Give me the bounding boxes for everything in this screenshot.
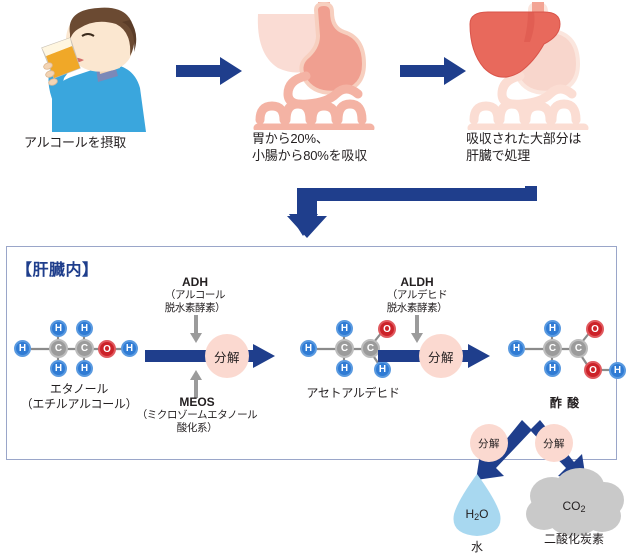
molecule-acetic-acid: H H H C C O O H	[508, 318, 626, 390]
enzyme-detail-adh: （アルコール 脱水素酵素）	[145, 289, 245, 315]
atom-h: H	[76, 360, 93, 377]
reaction-label-3: 分解	[470, 424, 508, 462]
step-caption-liver: 吸収された大部分は 肝臓で処理	[466, 130, 629, 164]
atom-c: C	[49, 339, 68, 358]
atom-h: H	[300, 340, 317, 357]
enzyme-name-adh: ADH	[145, 276, 245, 289]
step-caption-intake: アルコールを摂取	[24, 134, 174, 151]
product-water-formula: H2O	[465, 507, 488, 521]
atom-h: H	[508, 340, 525, 357]
atom-h: H	[50, 360, 67, 377]
product-co2-label: CO2 二酸化炭素	[522, 484, 626, 547]
enzyme-label-meos: MEOS （ミクロゾームエタノール 酸化系）	[128, 396, 266, 435]
atom-o: O	[586, 320, 604, 338]
atom-c: C	[569, 339, 588, 358]
product-water-label: H2O 水	[446, 492, 508, 555]
molecule-ethanol: H H H C H H C O H	[14, 318, 144, 380]
atom-h: H	[76, 320, 93, 337]
atom-o: O	[378, 320, 396, 338]
enzyme-name-meos: MEOS	[128, 396, 266, 409]
atom-h: H	[544, 360, 561, 377]
atom-h: H	[14, 340, 31, 357]
enzyme-detail-aldh: （アルデヒド 脱水素酵素）	[365, 289, 469, 315]
atom-o: O	[98, 340, 116, 358]
atom-c: C	[543, 339, 562, 358]
enzyme-arrow-aldh-down	[411, 315, 423, 343]
flow-arrow-2	[400, 56, 466, 86]
flow-arrow-down-connector	[285, 186, 545, 242]
reaction-label-1: 分解	[205, 334, 249, 378]
product-co2-name: 二酸化炭素	[544, 532, 604, 546]
molecule-label-acetaldehyde: アセトアルデヒド	[288, 386, 418, 401]
enzyme-detail-meos: （ミクロゾームエタノール 酸化系）	[128, 409, 266, 435]
molecule-label-acetic-acid: 酢 酸	[500, 396, 629, 411]
atom-c: C	[335, 339, 354, 358]
reaction-label-2: 分解	[419, 334, 463, 378]
flow-arrow-1	[176, 56, 242, 86]
atom-h: H	[336, 360, 353, 377]
product-co2-formula: CO2	[562, 499, 585, 513]
enzyme-arrow-meos-up	[190, 370, 202, 398]
enzyme-label-adh: ADH （アルコール 脱水素酵素）	[145, 276, 245, 315]
atom-h: H	[50, 320, 67, 337]
product-water-name: 水	[471, 540, 483, 554]
enzyme-label-aldh: ALDH （アルデヒド 脱水素酵素）	[365, 276, 469, 315]
atom-h: H	[544, 320, 561, 337]
enzyme-name-aldh: ALDH	[365, 276, 469, 289]
atom-o: O	[584, 361, 602, 379]
enzyme-arrow-adh-down	[190, 315, 202, 343]
atom-h: H	[121, 340, 138, 357]
liver-highlighted-icon	[466, 2, 606, 130]
person-drinking-icon	[22, 4, 172, 132]
atom-c: C	[75, 339, 94, 358]
stomach-intestine-icon	[252, 2, 392, 130]
step-caption-absorption: 胃から20%、 小腸から80%を吸収	[252, 130, 432, 164]
reaction-label-4: 分解	[535, 424, 573, 462]
liver-box-title: 【肝臓内】	[16, 256, 99, 280]
atom-h: H	[336, 320, 353, 337]
atom-h: H	[609, 362, 626, 379]
